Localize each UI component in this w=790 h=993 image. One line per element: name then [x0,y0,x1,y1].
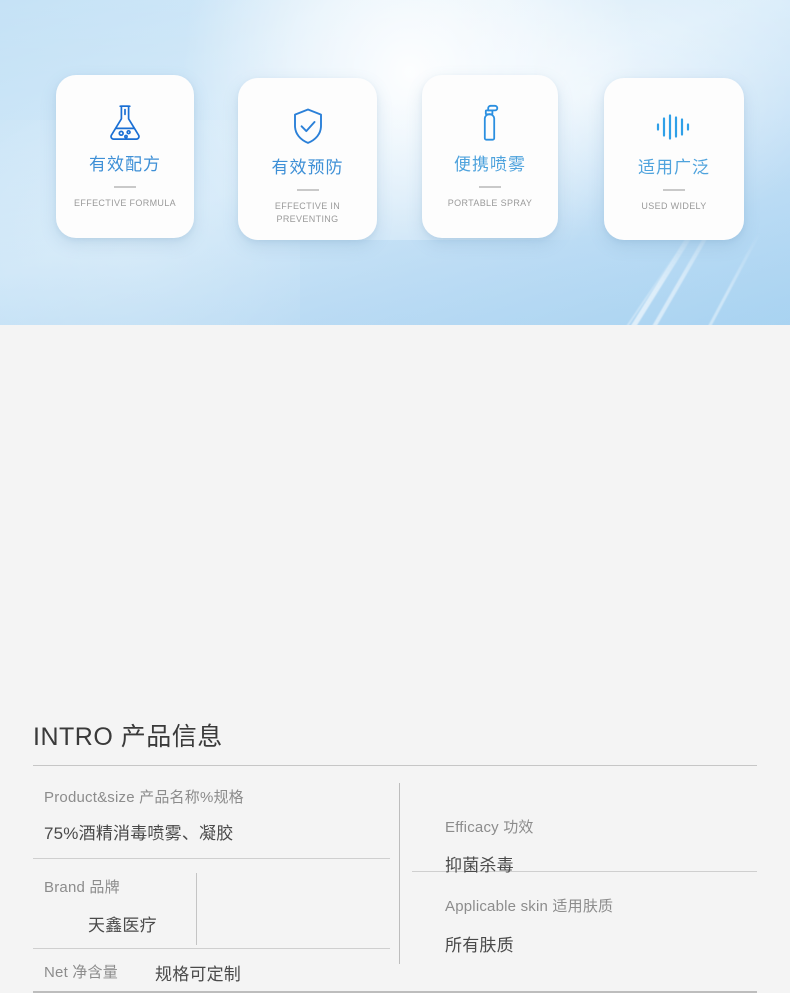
field-label-brand: Brand 品牌 [44,876,120,897]
page-title: INTRO 产品信息 [33,717,223,753]
feature-card-subtitle: EFFECTIVE FORMULA [74,197,176,209]
feature-card-subtitle: USED WIDELY [641,200,706,212]
waveform-bars-icon [653,104,695,150]
card-divider [297,189,319,191]
field-value-applicable-skin: 所有肤质 [445,931,514,956]
shield-check-icon [288,104,328,150]
card-divider [114,186,136,188]
field-value-product-size: 75%酒精消毒喷雾、凝胶 [44,819,233,844]
field-value-net-content: 规格可定制 [155,960,241,985]
product-info-section: INTRO 产品信息 Product&size 产品名称%规格 75%酒精消毒喷… [0,325,790,715]
field-value-brand: 天鑫医疗 [88,911,157,936]
feature-card-title: 便携喷雾 [454,155,526,175]
card-divider [479,186,501,188]
feature-card-subtitle: EFFECTIVE IN PREVENTING [275,200,340,224]
feature-card-subtitle: PORTABLE SPRAY [448,197,532,209]
row-divider-left-2 [33,948,390,949]
field-label-product-size: Product&size 产品名称%规格 [44,786,244,807]
feature-card-effective-formula[interactable]: 有效配方 EFFECTIVE FORMULA [56,75,194,238]
column-divider [399,783,400,964]
field-label-efficacy: Efficacy 功效 [445,816,534,837]
brand-cell-divider [196,873,197,945]
flask-icon [105,101,145,147]
card-divider [663,189,685,191]
hero-banner: 有效配方 EFFECTIVE FORMULA 有效预防 EFFECTIVE IN… [0,0,790,325]
feature-card-list: 有效配方 EFFECTIVE FORMULA 有效预防 EFFECTIVE IN… [0,0,790,325]
feature-card-used-widely[interactable]: 适用广泛 USED WIDELY [604,78,744,240]
row-divider-left-1 [33,858,390,859]
field-label-applicable-skin: Applicable skin 适用肤质 [445,895,613,916]
feature-card-portable-spray[interactable]: 便携喷雾 PORTABLE SPRAY [422,75,558,238]
feature-card-title: 有效预防 [272,158,344,178]
feature-card-title: 有效配方 [89,155,161,175]
spray-bottle-icon [470,101,510,147]
field-label-net-content: Net 净含量 [44,961,118,982]
section-divider-top [33,765,757,766]
field-value-efficacy: 抑菌杀毒 [445,851,514,876]
feature-card-effective-in-preventing[interactable]: 有效预防 EFFECTIVE IN PREVENTING [238,78,377,240]
feature-card-title: 适用广泛 [638,158,710,178]
